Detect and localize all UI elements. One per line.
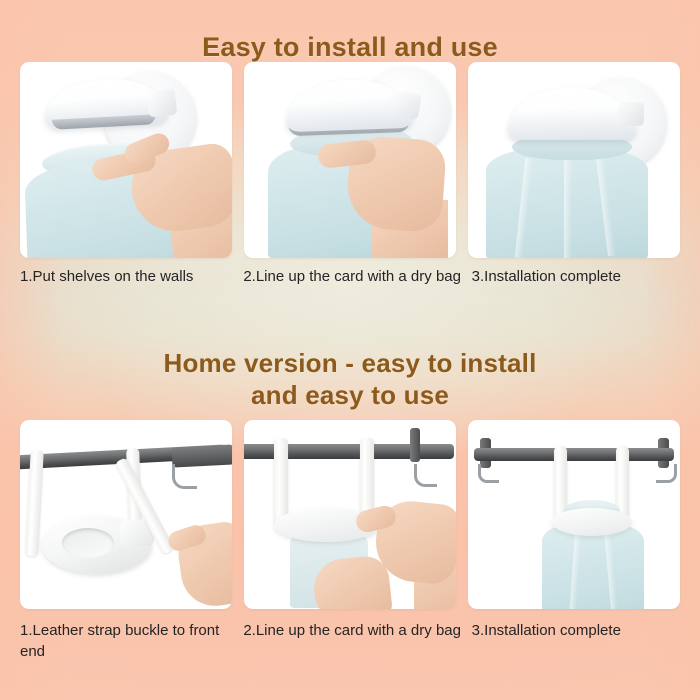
photo-rail-mount-step-2 bbox=[244, 420, 456, 609]
rail-hook bbox=[172, 464, 197, 489]
section-2-captions: 1.Leather strap buckle to front end 2.Li… bbox=[20, 620, 692, 662]
photo-rail-mount-step-1 bbox=[20, 420, 232, 609]
photo-card-2-3 bbox=[468, 420, 680, 609]
photo-wall-mount-step-1 bbox=[20, 62, 232, 258]
section-2-heading-line-1: Home version - easy to install bbox=[163, 348, 536, 378]
photo-card-1-2 bbox=[244, 62, 456, 258]
photo-card-2-2 bbox=[244, 420, 456, 609]
section-1-captions: 1.Put shelves on the walls 2.Line up the… bbox=[20, 266, 692, 287]
rail bbox=[474, 448, 674, 461]
photo-rail-mount-step-3 bbox=[468, 420, 680, 609]
photo-wall-mount-step-2 bbox=[244, 62, 456, 258]
bag-fold bbox=[564, 156, 572, 258]
rail-hook bbox=[414, 464, 437, 487]
caption-step-3: 3.Installation complete bbox=[464, 266, 692, 287]
lid-hinge-clip bbox=[618, 102, 644, 126]
section-2-heading-line-2: and easy to use bbox=[0, 379, 700, 411]
laundry-bag bbox=[542, 524, 644, 609]
rail-hook-right bbox=[656, 464, 677, 483]
plastic-ring bbox=[552, 508, 632, 536]
photo-card-1-3 bbox=[468, 62, 680, 258]
caption-step-1: 1.Put shelves on the walls bbox=[20, 266, 240, 287]
photo-card-1-1 bbox=[20, 62, 232, 258]
caption-step-2: 2.Line up the card with a dry bag bbox=[240, 620, 463, 662]
caption-step-3: 3.Installation complete bbox=[464, 620, 692, 662]
lid-hinge-clip bbox=[147, 89, 178, 118]
section-1-photo-row bbox=[20, 62, 680, 258]
caption-step-1: 1.Leather strap buckle to front end bbox=[20, 620, 240, 662]
caption-step-2: 2.Line up the card with a dry bag bbox=[240, 266, 463, 287]
strap-left bbox=[274, 438, 288, 524]
rail-post bbox=[410, 428, 420, 462]
photo-card-2-1 bbox=[20, 420, 232, 609]
photo-wall-mount-step-3 bbox=[468, 62, 680, 258]
ring-opening bbox=[62, 528, 114, 558]
section-1-heading: Easy to install and use bbox=[0, 31, 700, 63]
infographic-page: Easy to install and use bbox=[0, 0, 700, 700]
lid-hinge-clip bbox=[388, 90, 422, 121]
rail-hook-left bbox=[478, 464, 499, 483]
section-2-heading: Home version - easy to install and easy … bbox=[0, 347, 700, 411]
section-2-photo-row bbox=[20, 420, 680, 609]
